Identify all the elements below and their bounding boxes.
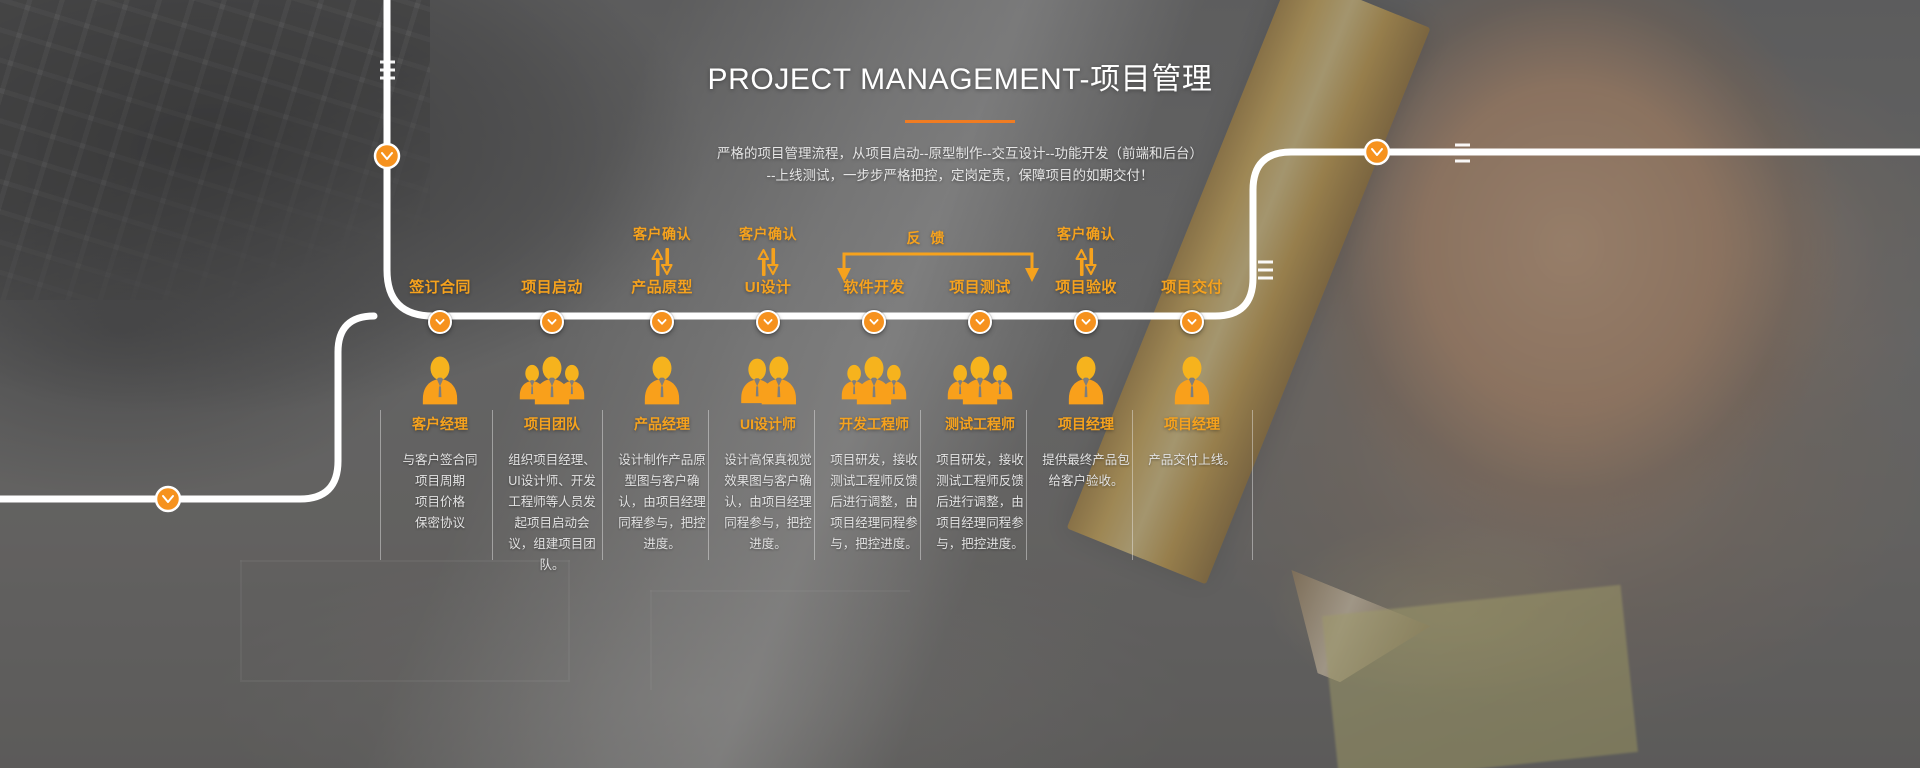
- step-node-marker[interactable]: [1180, 310, 1204, 334]
- step-top-annotation: [386, 214, 494, 276]
- timeline-step-2[interactable]: 项目启动 项目团队组织项目经理、UI设计师、开发工程师等人员发起项目启动会议，组…: [498, 214, 606, 576]
- chevron-down-icon: [435, 318, 445, 326]
- step-node-marker[interactable]: [428, 310, 452, 334]
- page-title: PROJECT MANAGEMENT-项目管理: [0, 54, 1920, 98]
- step-role-label: 开发工程师: [820, 414, 928, 434]
- two-person-icon: [714, 352, 822, 408]
- single-person-icon: [608, 352, 716, 408]
- chevron-down-icon: [547, 318, 557, 326]
- column-divider: [814, 410, 815, 560]
- client-confirm-label: 客户确认: [1032, 224, 1140, 244]
- client-confirm-label: 客户确认: [714, 224, 822, 244]
- subtitle: 严格的项目管理流程，从项目启动--原型制作--交互设计--功能开发（前端和后台）…: [0, 143, 1920, 187]
- timeline-step-8[interactable]: 项目交付 项目经理产品交付上线。: [1138, 214, 1246, 471]
- column-divider: [1132, 410, 1133, 560]
- group-person-icon: [926, 352, 1034, 408]
- step-role-label: 项目团队: [498, 414, 606, 434]
- step-node-marker[interactable]: [540, 310, 564, 334]
- up-down-arrow-icon: [647, 247, 677, 277]
- step-label: 项目测试: [926, 276, 1034, 300]
- column-divider: [920, 410, 921, 560]
- group-person-icon: [820, 352, 928, 408]
- step-role-label: 项目经理: [1032, 414, 1140, 434]
- single-person-icon: [1032, 352, 1140, 408]
- step-role-label: 测试工程师: [926, 414, 1034, 434]
- step-top-annotation: 客户确认: [714, 214, 822, 276]
- step-description: 提供最终产品包给客户验收。: [1032, 450, 1140, 492]
- step-label: 产品原型: [608, 276, 716, 300]
- step-node-marker[interactable]: [862, 310, 886, 334]
- step-description: 与客户签合同 项目周期 项目价格 保密协议: [386, 450, 494, 534]
- timeline-step-3[interactable]: 客户确认 产品原型 产品经理设计制作产品原型图与客户确认，由项目经理同程参与，把…: [608, 214, 716, 555]
- step-description: 产品交付上线。: [1138, 450, 1246, 471]
- step-label: 签订合同: [386, 276, 494, 300]
- step-node-marker[interactable]: [1074, 310, 1098, 334]
- step-top-annotation: [498, 214, 606, 276]
- step-description: 设计高保真视觉效果图与客户确认，由项目经理同程参与，把控进度。: [714, 450, 822, 555]
- step-label: 项目验收: [1032, 276, 1140, 300]
- chevron-down-icon: [869, 318, 879, 326]
- step-description: 项目研发，接收测试工程师反馈后进行调整，由项目经理同程参与，把控进度。: [926, 450, 1034, 555]
- chevron-down-icon: [657, 318, 667, 326]
- step-node-marker[interactable]: [756, 310, 780, 334]
- single-person-icon: [1138, 352, 1246, 408]
- up-down-arrow-icon: [714, 247, 822, 277]
- timeline-step-5[interactable]: 软件开发 开发工程师项目研发，接收测试工程师反馈后进行调整，由项目经理同程参与，…: [820, 214, 928, 555]
- column-divider: [492, 410, 493, 560]
- up-down-arrow-icon: [753, 247, 783, 277]
- step-top-annotation: 客户确认: [608, 214, 716, 276]
- chevron-down-icon: [763, 318, 773, 326]
- step-node-marker[interactable]: [650, 310, 674, 334]
- group-person-icon: [498, 352, 606, 408]
- column-divider: [1252, 410, 1253, 560]
- chevron-down-icon: [975, 318, 985, 326]
- step-node-marker[interactable]: [968, 310, 992, 334]
- step-top-annotation: [820, 214, 928, 276]
- project-timeline: 反 馈 签订合同 客户经理与客户签合同 项目周期 项目价格 保密协议项目启动: [368, 214, 1608, 644]
- subtitle-line-2: --上线测试，一步步严格把控，定岗定责，保障项目的如期交付！: [0, 165, 1920, 187]
- step-top-annotation: [1138, 214, 1246, 276]
- column-divider: [380, 410, 381, 560]
- step-description: 组织项目经理、UI设计师、开发工程师等人员发起项目启动会议，组建项目团队。: [498, 450, 606, 576]
- step-role-label: 客户经理: [386, 414, 494, 434]
- step-description: 项目研发，接收测试工程师反馈后进行调整，由项目经理同程参与，把控进度。: [820, 450, 928, 555]
- step-top-annotation: 客户确认: [1032, 214, 1140, 276]
- client-confirm-label: 客户确认: [608, 224, 716, 244]
- step-description: 设计制作产品原型图与客户确认，由项目经理同程参与，把控进度。: [608, 450, 716, 555]
- timeline-step-1[interactable]: 签订合同 客户经理与客户签合同 项目周期 项目价格 保密协议: [386, 214, 494, 534]
- subtitle-line-1: 严格的项目管理流程，从项目启动--原型制作--交互设计--功能开发（前端和后台）: [0, 143, 1920, 165]
- step-role-label: 产品经理: [608, 414, 716, 434]
- chevron-down-icon: [1081, 318, 1091, 326]
- timeline-step-4[interactable]: 客户确认 UI设计 UI设计师设计高保真视觉效果图与客户确认，由项目经理同程参与…: [714, 214, 822, 555]
- column-divider: [602, 410, 603, 560]
- header: PROJECT MANAGEMENT-项目管理 严格的项目管理流程，从项目启动-…: [0, 0, 1920, 187]
- page-canvas: PROJECT MANAGEMENT-项目管理 严格的项目管理流程，从项目启动-…: [0, 0, 1920, 768]
- column-divider: [708, 410, 709, 560]
- title-divider: [905, 120, 1015, 123]
- step-label: 软件开发: [820, 276, 928, 300]
- step-label: 项目交付: [1138, 276, 1246, 300]
- up-down-arrow-icon: [1071, 247, 1101, 277]
- timeline-step-6[interactable]: 项目测试 测试工程师项目研发，接收测试工程师反馈后进行调整，由项目经理同程参与，…: [926, 214, 1034, 555]
- step-label: UI设计: [714, 276, 822, 300]
- chevron-down-icon: [1187, 318, 1197, 326]
- step-top-annotation: [926, 214, 1034, 276]
- step-role-label: UI设计师: [714, 414, 822, 434]
- step-role-label: 项目经理: [1138, 414, 1246, 434]
- timeline-step-7[interactable]: 客户确认 项目验收 项目经理提供最终产品包给客户验收。: [1032, 214, 1140, 492]
- step-label: 项目启动: [498, 276, 606, 300]
- up-down-arrow-icon: [1032, 247, 1140, 277]
- single-person-icon: [386, 352, 494, 408]
- up-down-arrow-icon: [608, 247, 716, 277]
- column-divider: [1026, 410, 1027, 560]
